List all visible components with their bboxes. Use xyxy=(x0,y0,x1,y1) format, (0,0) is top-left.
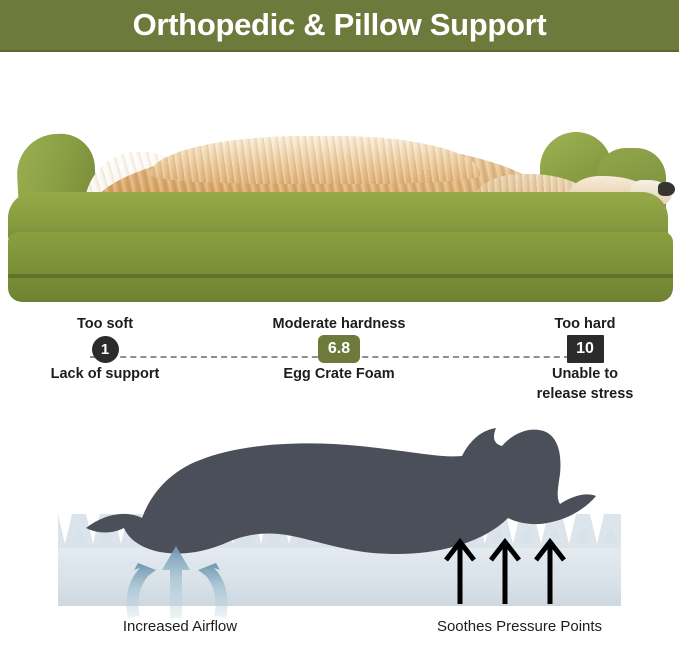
scale-stop-caption-top: Too hard xyxy=(495,316,675,333)
scale-stop-caption-top: Moderate hardness xyxy=(249,316,429,333)
caption-increased-airflow: Increased Airflow xyxy=(0,618,360,635)
scale-marker-6-8: 6.8 xyxy=(318,335,360,363)
scale-stop-caption-bottom: Lack of support xyxy=(15,366,195,383)
bed-base xyxy=(8,232,673,302)
bed-base-seam xyxy=(8,274,673,278)
scale-stop-caption-bottom-line1: Unable to xyxy=(495,366,675,383)
dog-back-fur xyxy=(150,136,480,184)
caption-soothes-pressure-points: Soothes Pressure Points xyxy=(360,618,679,635)
scale-marker-10: 10 xyxy=(567,335,604,363)
scale-stop-caption-bottom: Egg Crate Foam xyxy=(249,366,429,383)
scale-stop-too-hard: Too hard 10 Unable to release stress xyxy=(495,316,675,403)
dog-nose xyxy=(658,182,675,196)
scale-marker-1: 1 xyxy=(92,336,119,363)
scale-stop-caption-top: Too soft xyxy=(15,316,195,333)
product-photo xyxy=(0,52,679,310)
scale-stop-caption-bottom-line2: release stress xyxy=(495,386,675,403)
foam-diagram: Increased Airflow Soothes Pressure Point… xyxy=(0,418,679,660)
header-banner: Orthopedic & Pillow Support xyxy=(0,0,679,52)
scale-stop-too-soft: Too soft 1 Lack of support xyxy=(15,316,195,383)
diagram-captions: Increased Airflow Soothes Pressure Point… xyxy=(0,618,679,635)
scale-stop-moderate: Moderate hardness 6.8 Egg Crate Foam xyxy=(249,316,429,383)
page-title: Orthopedic & Pillow Support xyxy=(133,7,547,43)
hardness-scale: Too soft 1 Lack of support Moderate hard… xyxy=(0,310,679,418)
